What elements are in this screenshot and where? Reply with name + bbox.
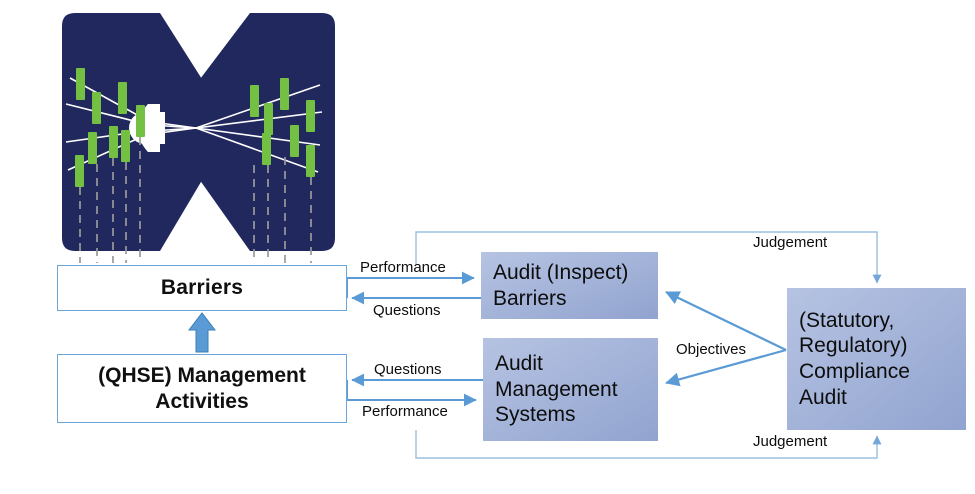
edge-label-judgement-top: Judgement: [753, 234, 827, 251]
barriers-box[interactable]: Barriers: [57, 265, 347, 311]
audit-mgmt-label-line2: Management: [495, 377, 618, 403]
diagram-canvas: Barriers (QHSE) Management Activities Au…: [0, 0, 975, 494]
connector-mgmt-to-barriers: [189, 313, 215, 352]
compliance-label-line3: Compliance: [799, 359, 910, 385]
compliance-label-line2: Regulatory): [799, 333, 910, 359]
qhse-label-line2: Activities: [98, 389, 306, 415]
edge-label-objectives: Objectives: [676, 341, 746, 358]
bowtie-shape-clean: [58, 8, 348, 256]
compliance-label: (Statutory, Regulatory) Compliance Audit: [787, 308, 910, 410]
edge-label-questions-bottom: Questions: [374, 361, 442, 378]
edge-label-performance-bottom: Performance: [362, 403, 448, 420]
audit-barriers-label: Audit (Inspect) Barriers: [481, 260, 628, 311]
compliance-label-line4: Audit: [799, 385, 910, 411]
audit-inspect-barriers-box[interactable]: Audit (Inspect) Barriers: [481, 252, 658, 319]
edge-label-questions-top: Questions: [373, 302, 441, 319]
compliance-label-line1: (Statutory,: [799, 308, 910, 334]
audit-mgmt-label-line1: Audit: [495, 351, 618, 377]
barriers-label: Barriers: [161, 276, 243, 300]
statutory-regulatory-compliance-audit-box[interactable]: (Statutory, Regulatory) Compliance Audit: [787, 288, 966, 430]
audit-mgmt-label-line3: Systems: [495, 402, 618, 428]
audit-mgmt-label: Audit Management Systems: [483, 351, 618, 428]
qhse-management-activities-box[interactable]: (QHSE) Management Activities: [57, 354, 347, 423]
qhse-label-line1: (QHSE) Management: [98, 363, 306, 389]
audit-management-systems-box[interactable]: Audit Management Systems: [483, 338, 658, 441]
qhse-label: (QHSE) Management Activities: [98, 363, 306, 414]
edge-label-performance-top: Performance: [360, 259, 446, 276]
audit-barriers-label-line1: Audit (Inspect): [493, 260, 628, 286]
audit-barriers-label-line2: Barriers: [493, 286, 628, 312]
edge-label-judgement-bottom: Judgement: [753, 433, 827, 450]
